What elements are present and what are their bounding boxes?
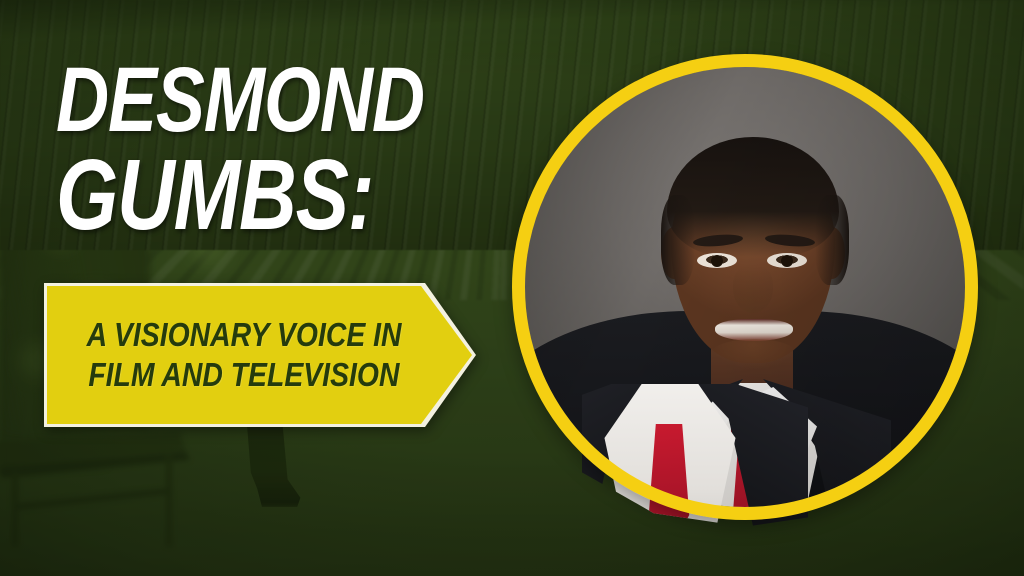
portrait-circle [512,54,978,520]
headline-line-1: DESMOND [56,58,456,143]
subtitle-arrow-banner: A VISIONARY VOICE IN FILM AND TELEVISION [44,283,476,427]
headline-line-2: GUMBS: [56,149,456,241]
banner-text-group: A VISIONARY VOICE IN FILM AND TELEVISION [44,283,426,427]
title-card-graphic: DESMOND GUMBS: A VISIONARY VOICE IN FILM… [0,0,1024,576]
banner-line-2: FILM AND TELEVISION [88,358,399,392]
banner-line-1: A VISIONARY VOICE IN [87,318,402,352]
headline: DESMOND GUMBS: [56,58,556,241]
